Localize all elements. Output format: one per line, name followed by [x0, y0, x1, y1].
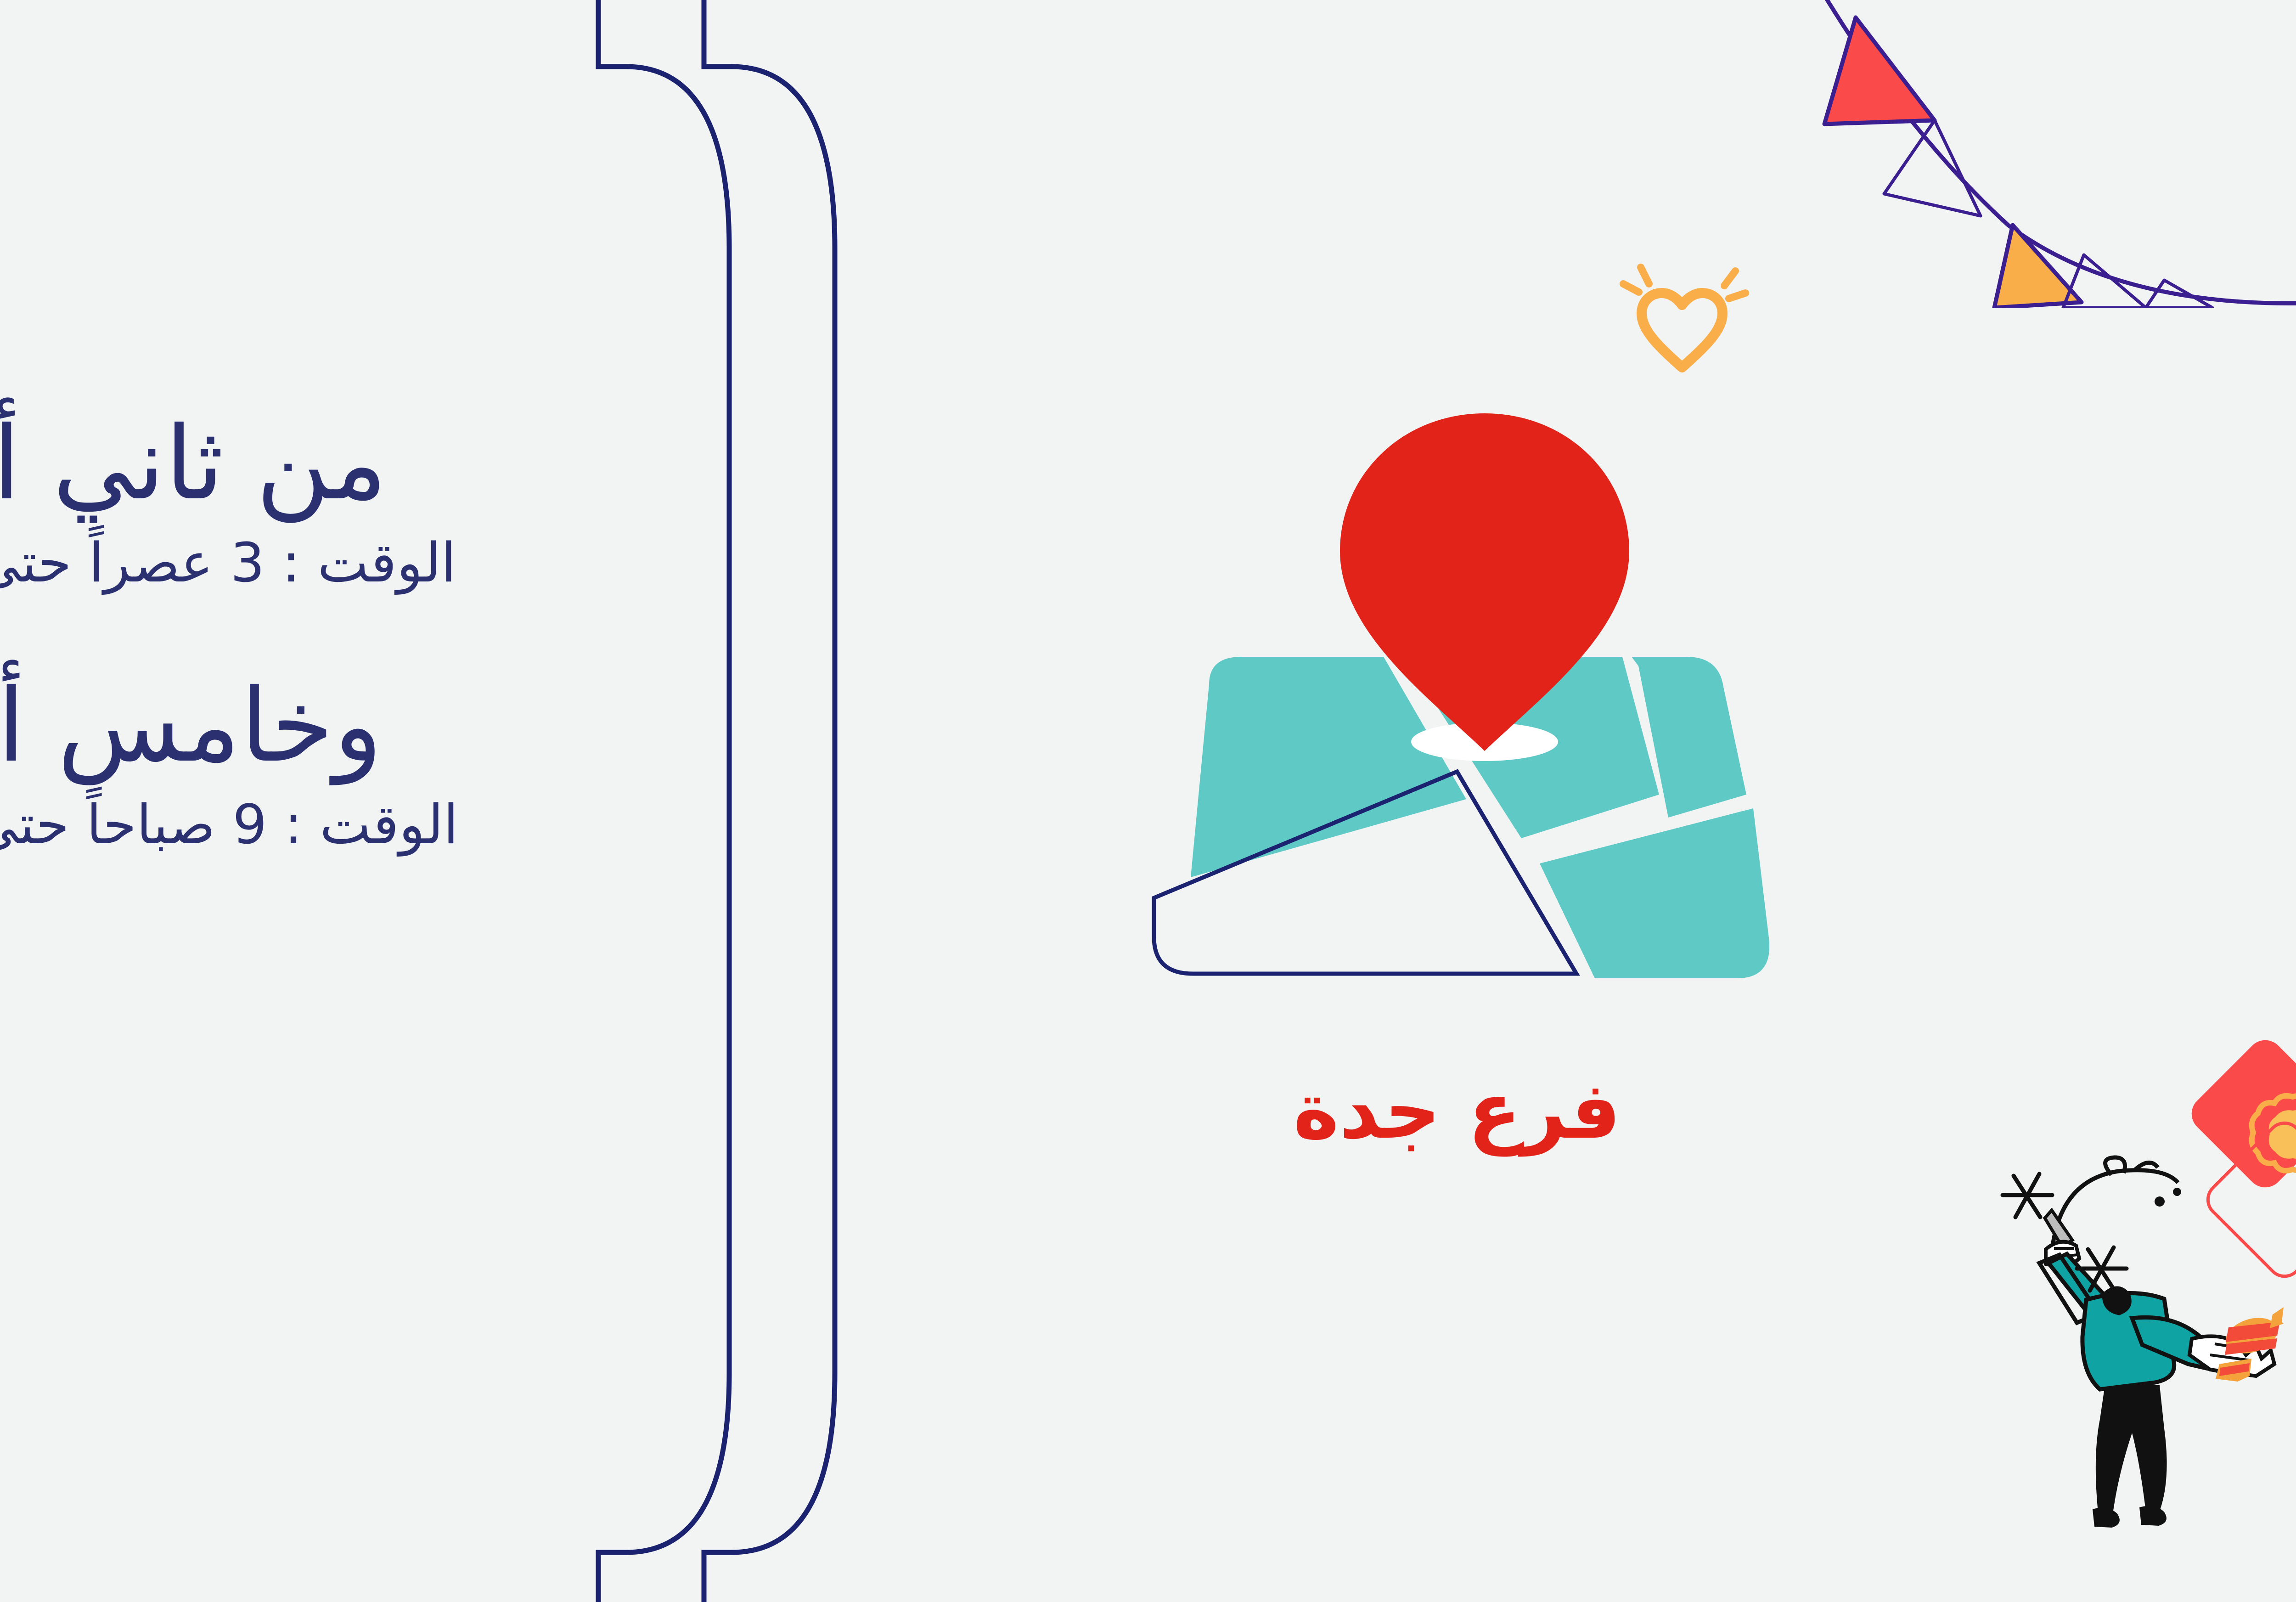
headline-block-1: من ثاني أيام العيد — [0, 404, 580, 524]
hours-block-2: الوقت : 9 صباحاً حتى الساعة 11 مساءً — [0, 785, 580, 864]
branch-label: فرع جدة — [1154, 1066, 1760, 1156]
arch-bracket-lines-icon — [552, 0, 911, 1602]
text-block-spacer — [0, 602, 580, 666]
announcement-text: من ثاني أيام العيد الوقت : 3 عصراً حتى ا… — [0, 404, 580, 864]
person-with-sparkler-illustration — [1981, 1116, 2284, 1566]
banner-canvas: عساكم من عوداه — [0, 0, 2296, 1602]
bunting-flags-icon — [1797, 0, 2296, 308]
headline-block-2: وخامس أيام العيد — [0, 666, 580, 786]
hours-block-1: الوقت : 3 عصراً حتى الساعة 11 مساءً — [0, 524, 580, 602]
map-icon — [1136, 335, 1769, 1070]
